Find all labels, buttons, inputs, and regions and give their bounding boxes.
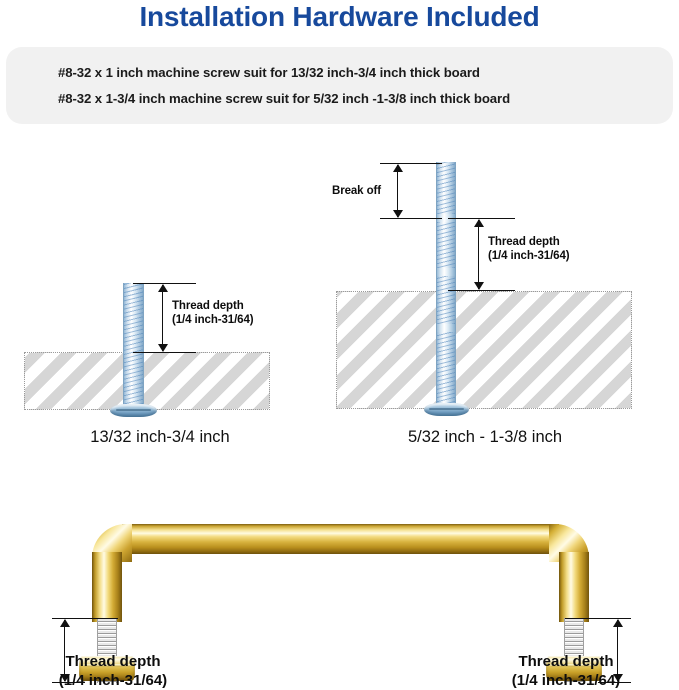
- label-thread-depth-long-line2: (1/4 inch-31/64): [488, 250, 570, 262]
- ext-line-breakoff-top: [380, 163, 442, 164]
- spec-line-long-screw: #8-32 x 1-3/4 inch machine screw suit fo…: [58, 91, 510, 106]
- arrow-handle-right-top: [613, 619, 623, 627]
- handle-diagram: Thread depth (1/4 inch-31/64) Thread dep…: [0, 490, 679, 690]
- diagram-short-screw: Thread depth (1/4 inch-31/64) 13/32 inch…: [0, 140, 320, 460]
- caption-long-screw: 5/32 inch - 1-3/8 inch: [330, 428, 640, 447]
- ext-line-thread-depth-bottom-long: [448, 290, 515, 291]
- spec-note-box: #8-32 x 1 inch machine screw suit for 13…: [6, 47, 673, 124]
- arrow-thread-depth-top-long: [474, 219, 484, 227]
- label-thread-depth-short: Thread depth (1/4 inch-31/64): [172, 299, 254, 327]
- handle-label-right-line1: Thread depth: [518, 653, 613, 670]
- label-thread-depth-long-line1: Thread depth: [488, 236, 560, 248]
- handle-label-right: Thread depth (1/4 inch-31/64): [453, 652, 679, 690]
- handle-label-left-line2: (1/4 inch-31/64): [59, 672, 167, 689]
- screw-shaft-short: [123, 283, 144, 408]
- ext-line-thread-depth-bottom: [133, 352, 196, 353]
- screw-groove-2: [436, 268, 456, 276]
- handle-top-bar: [122, 524, 559, 554]
- dim-line-thread-depth: [162, 285, 163, 351]
- screw-shaft-segment-4: [436, 332, 456, 406]
- screw-shaft-segment-2: [436, 222, 456, 268]
- label-thread-depth-line2: (1/4 inch-31/64): [172, 314, 254, 326]
- arrow-breakoff-top: [393, 164, 403, 172]
- arrow-breakoff-bottom: [393, 210, 403, 218]
- label-thread-depth-long: Thread depth (1/4 inch-31/64): [488, 235, 570, 263]
- arrow-handle-left-top: [60, 619, 70, 627]
- spec-line-short-screw: #8-32 x 1 inch machine screw suit for 13…: [58, 65, 480, 80]
- handle-label-right-line2: (1/4 inch-31/64): [512, 672, 620, 689]
- arrow-thread-depth-top: [158, 284, 168, 292]
- screw-head-short: [110, 404, 157, 417]
- screw-groove-3: [436, 324, 456, 332]
- handle-label-left: Thread depth (1/4 inch-31/64): [0, 652, 226, 690]
- screw-shaft-segment-3: [436, 276, 456, 324]
- label-breakoff: Break off: [332, 184, 381, 198]
- arrow-thread-depth-bottom: [158, 344, 168, 352]
- arrow-thread-depth-bottom-long: [474, 282, 484, 290]
- screw-head-long: [424, 403, 469, 416]
- page-title: Installation Hardware Included: [0, 1, 679, 33]
- label-thread-depth-line1: Thread depth: [172, 300, 244, 312]
- handle-label-left-line1: Thread depth: [65, 653, 160, 670]
- handle-leg-right: [559, 552, 589, 622]
- caption-short-screw: 13/32 inch-3/4 inch: [0, 428, 320, 447]
- ext-line-breakoff-bottom: [380, 218, 442, 219]
- dim-line-thread-depth-long: [478, 220, 479, 289]
- handle-leg-left: [92, 552, 122, 622]
- screw-shaft-breakoff: [436, 162, 456, 214]
- board-hatch-thin: [24, 352, 270, 410]
- diagram-long-screw: Break off Thread depth (1/4 inch-31/64) …: [330, 140, 679, 460]
- board-hatch-thick: [336, 291, 632, 409]
